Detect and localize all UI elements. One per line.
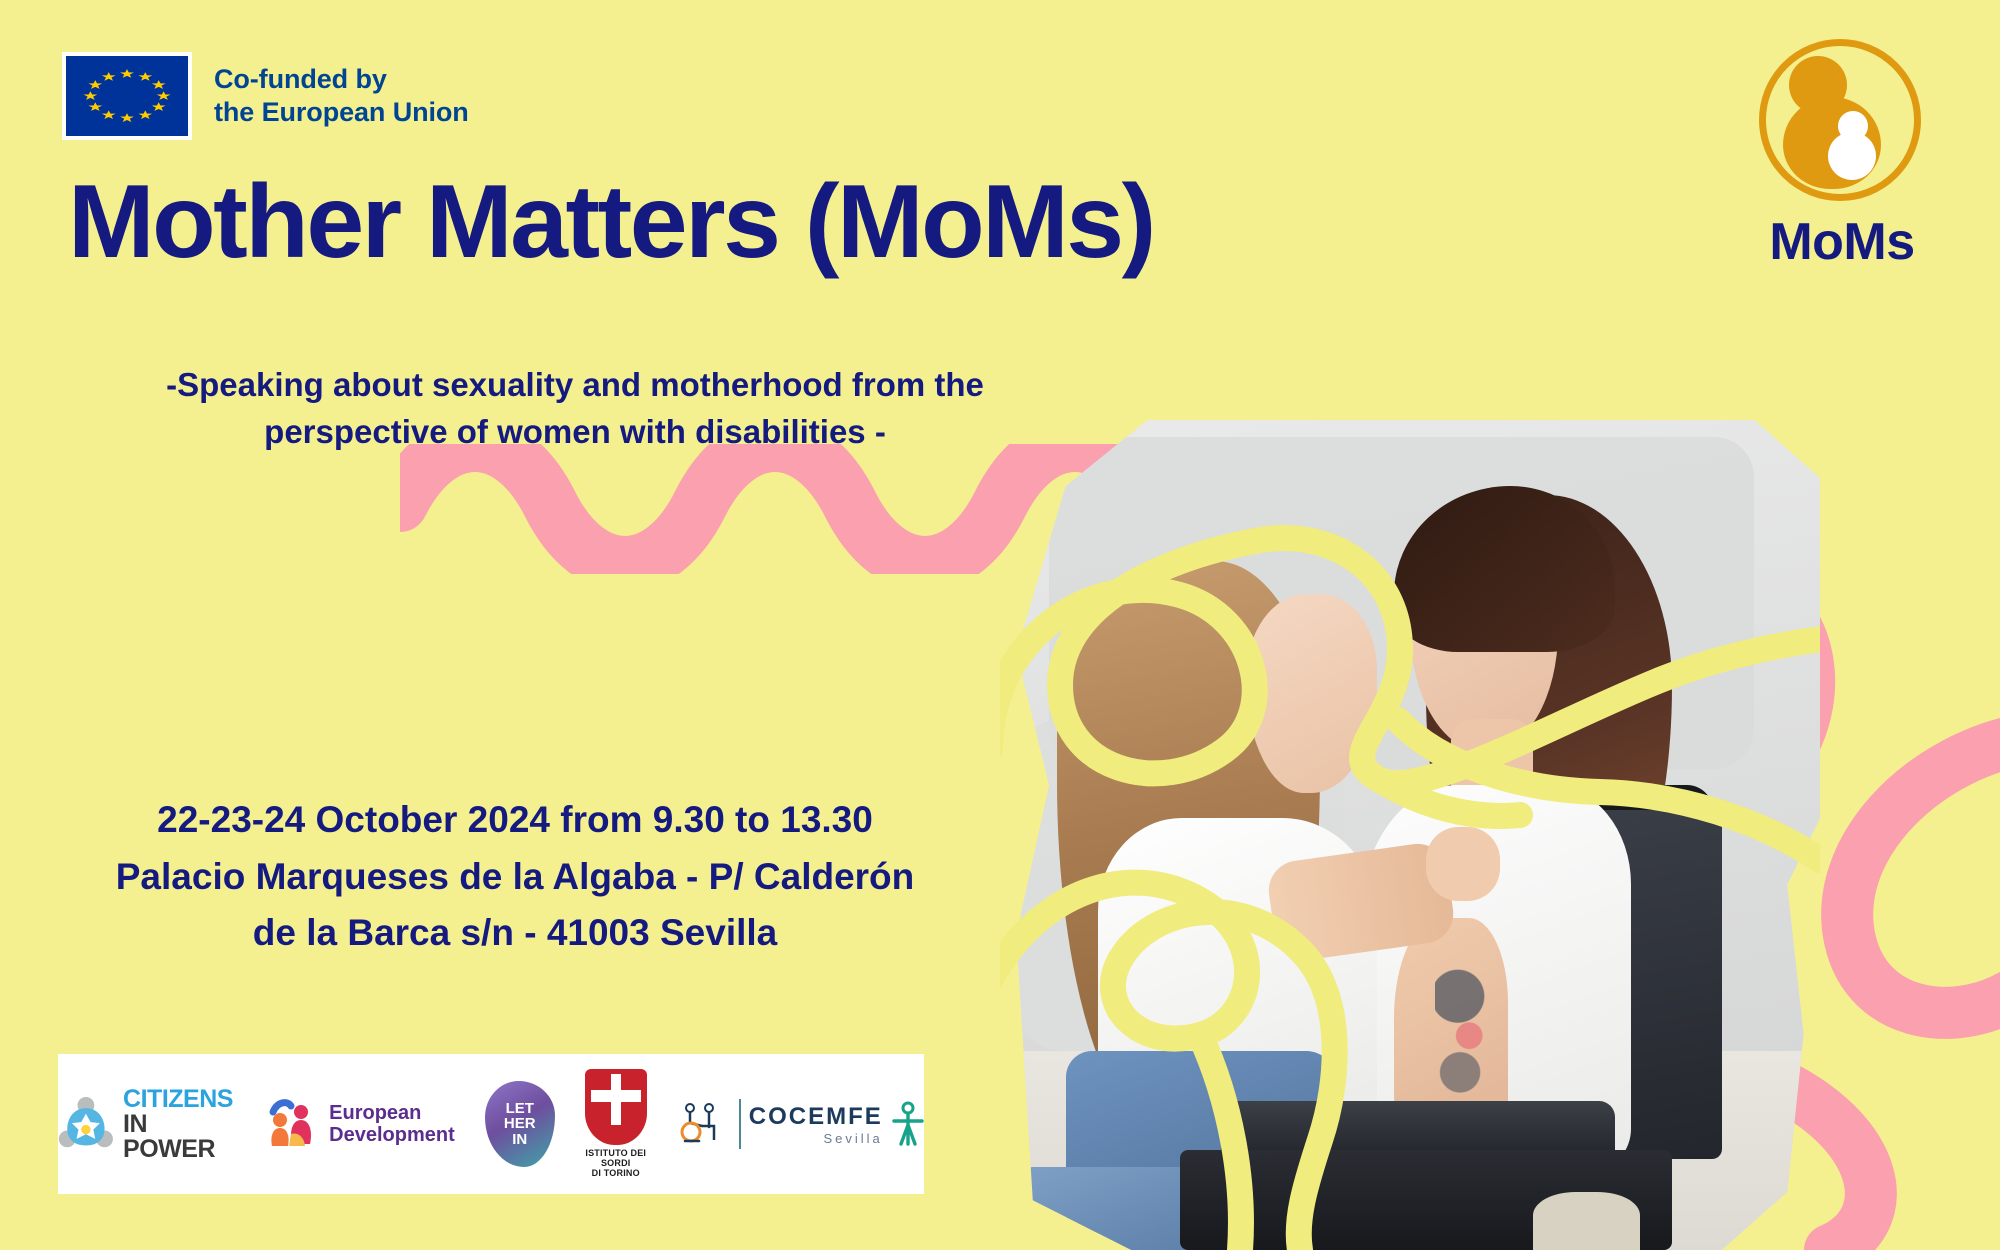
eu-star — [102, 110, 116, 119]
partner-logo-istituto-dei-sordi: ISTITUTO DEI SORDI DI TORINO — [585, 1069, 647, 1179]
citizens-in-power-wordmark: CITIZENS IN POWER — [123, 1087, 237, 1162]
partner-logo-european-development: European Development — [267, 1096, 455, 1152]
page-title: Mother Matters (MoMs) — [68, 168, 1154, 277]
eu-star — [157, 91, 171, 100]
let-her-in-icon: LET HER IN — [485, 1081, 555, 1167]
european-development-wordmark: European Development — [329, 1102, 455, 1147]
baby-body-shape — [1828, 132, 1876, 180]
page-subtitle: -Speaking about sexuality and motherhood… — [70, 362, 1080, 456]
cip-line-2: IN POWER — [123, 1112, 237, 1162]
shield-cross-horizontal — [591, 1090, 641, 1101]
partner-logo-citizens-in-power: CITIZENS IN POWER — [57, 1087, 237, 1162]
eu-funding-text: Co-funded by the European Union — [214, 63, 469, 129]
cocemfe-divider — [739, 1099, 741, 1149]
photo-scene — [1000, 420, 1820, 1250]
partner-logo-let-her-in: LET HER IN — [485, 1081, 555, 1167]
daughter-hand — [1426, 827, 1500, 902]
eu-star-circle — [66, 56, 188, 136]
wheelchair-accessibility-icon — [677, 1101, 731, 1147]
eu-star — [120, 113, 134, 122]
istituto-caption: ISTITUTO DEI SORDI DI TORINO — [585, 1149, 647, 1179]
cocemfe-wordmark: COCEMFE — [749, 1103, 883, 1131]
mother-tattoo — [1435, 968, 1492, 1109]
citizens-in-power-icon — [57, 1093, 115, 1155]
photo-mask — [1000, 420, 1820, 1250]
event-poster: Co-funded by the European Union MoMs Mot… — [0, 0, 2000, 1250]
mother-and-baby-icon — [1751, 34, 1933, 216]
eu-star — [83, 91, 97, 100]
wheelchair-wheel — [1533, 1192, 1640, 1250]
accessible-person-icon — [891, 1101, 925, 1147]
eu-flag-icon — [62, 52, 192, 140]
partner-logo-strip: CITIZENS IN POWER European Development L… — [58, 1054, 924, 1194]
event-details: 22-23-24 October 2024 from 9.30 to 13.30… — [60, 792, 970, 962]
cip-line-1: CITIZENS — [123, 1087, 237, 1112]
savoy-shield-icon — [585, 1069, 647, 1145]
eu-star — [138, 110, 152, 119]
eu-star — [88, 80, 102, 89]
eu-star — [152, 102, 166, 111]
eu-star — [88, 102, 102, 111]
eu-star — [120, 69, 134, 78]
eu-funding-logo: Co-funded by the European Union — [62, 52, 469, 140]
cocemfe-location: Sevilla — [749, 1131, 883, 1146]
eu-star — [102, 72, 116, 81]
moms-wordmark: MoMs — [1742, 212, 1942, 272]
eu-star — [138, 72, 152, 81]
let-her-in-wordmark: LET HER IN — [504, 1101, 536, 1147]
moms-logo: MoMs — [1742, 34, 1942, 272]
european-development-icon — [267, 1096, 321, 1152]
partner-logo-cocemfe-sevilla: COCEMFE Sevilla — [677, 1099, 925, 1149]
eu-star — [152, 80, 166, 89]
hero-photo — [1000, 420, 1820, 1250]
